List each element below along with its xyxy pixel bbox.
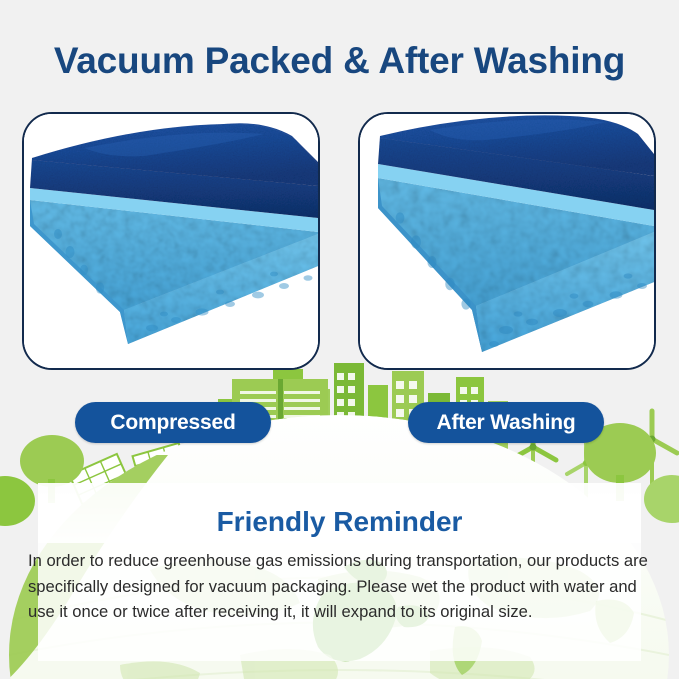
- badge-after-washing-label: After Washing: [437, 411, 576, 435]
- badge-after-washing[interactable]: After Washing: [408, 402, 604, 443]
- expanded-sponge-image: [360, 114, 654, 368]
- page-title: Vacuum Packed & After Washing: [0, 38, 679, 84]
- product-panel-compressed: [22, 112, 320, 370]
- reminder-body-text: In order to reduce greenhouse gas emissi…: [28, 548, 654, 625]
- infographic-page: Vacuum Packed & After Washing: [0, 0, 679, 679]
- compressed-sponge-image: [24, 114, 318, 368]
- reminder-heading: Friendly Reminder: [0, 505, 679, 539]
- badge-compressed[interactable]: Compressed: [75, 402, 271, 443]
- badge-compressed-label: Compressed: [110, 411, 235, 435]
- product-panel-after-washing: [358, 112, 656, 370]
